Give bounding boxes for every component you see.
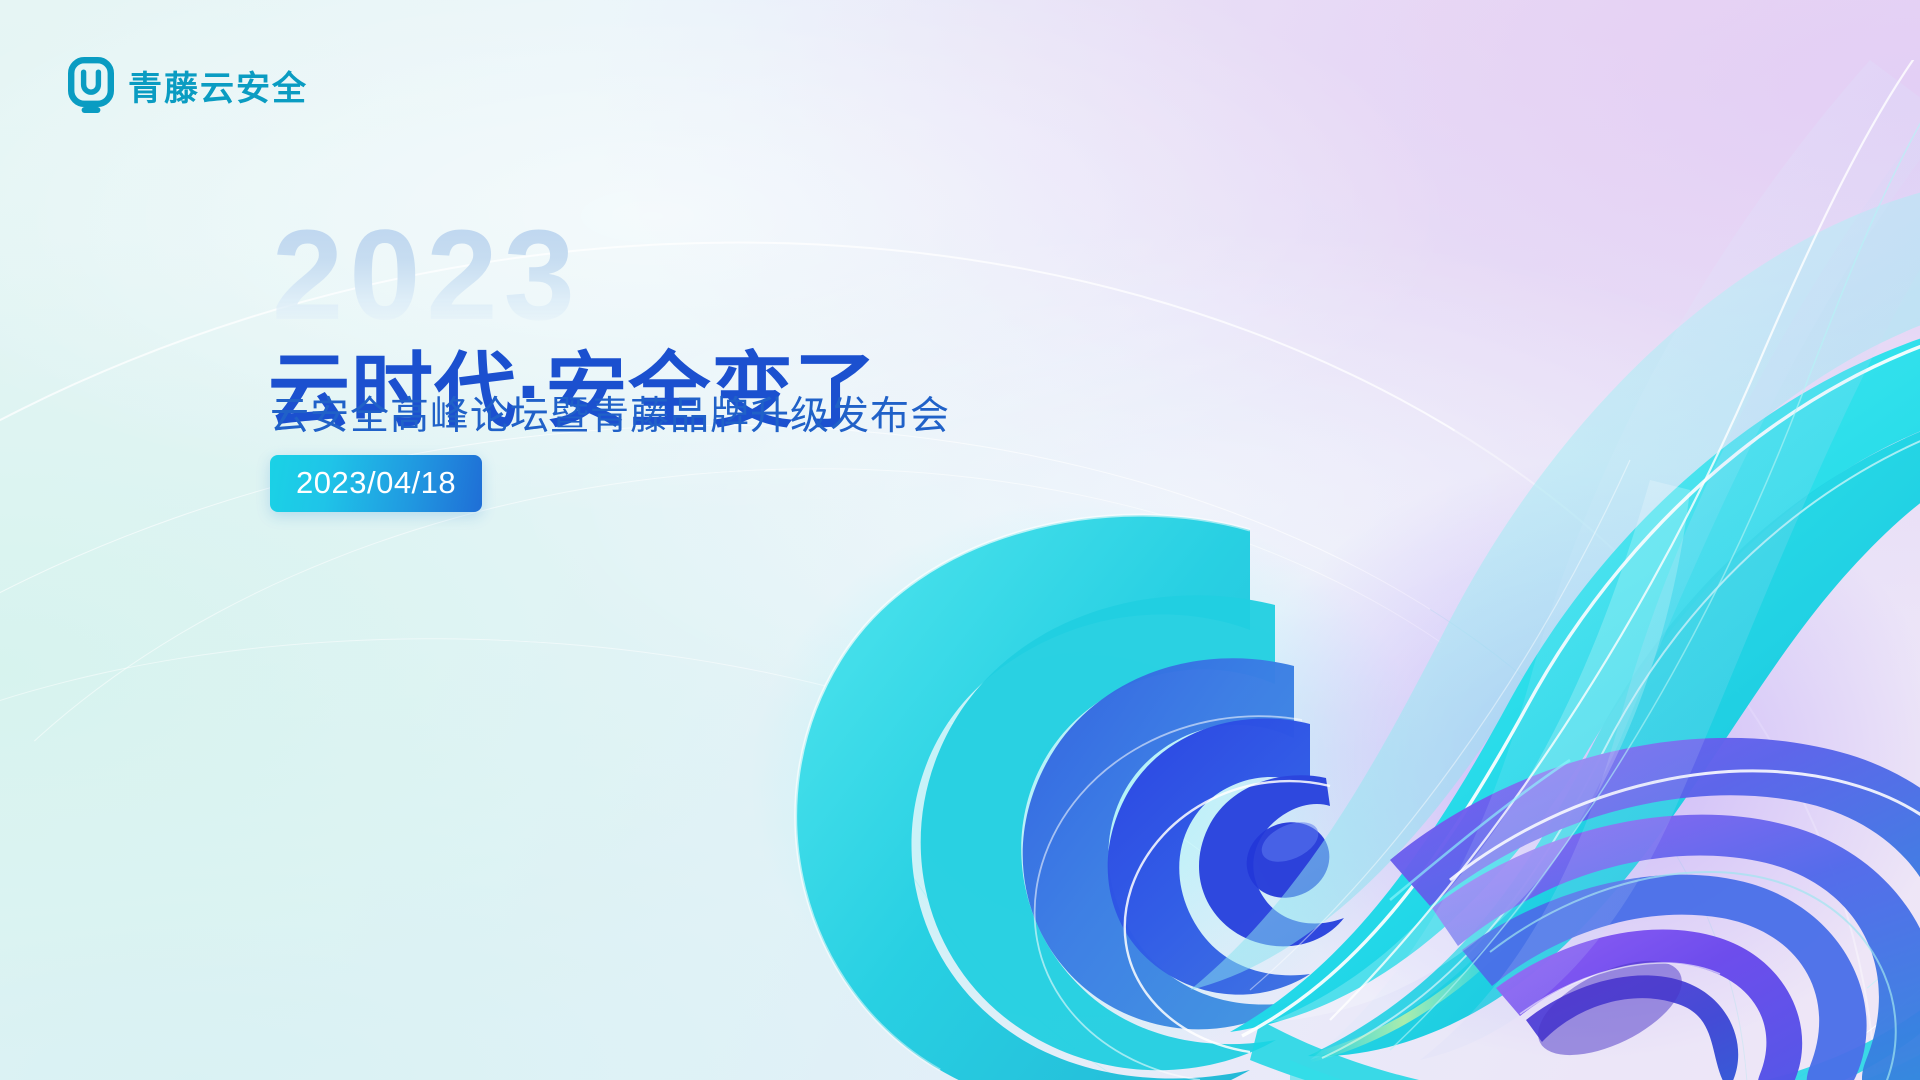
poster-canvas: 青藤云安全 2023 云时代·安全变了 云安全高峰论坛暨青藤品牌升级发布会 20… (0, 0, 1920, 1080)
qingteng-shield-icon (68, 57, 114, 120)
brand-name: 青藤云安全 (128, 72, 308, 106)
event-date-badge[interactable]: 2023/04/18 (270, 455, 482, 512)
background-sheen (0, 0, 1920, 1080)
page-subtitle: 云安全高峰论坛暨青藤品牌升级发布会 (270, 397, 950, 436)
brand-logo[interactable]: 青藤云安全 (68, 57, 308, 120)
